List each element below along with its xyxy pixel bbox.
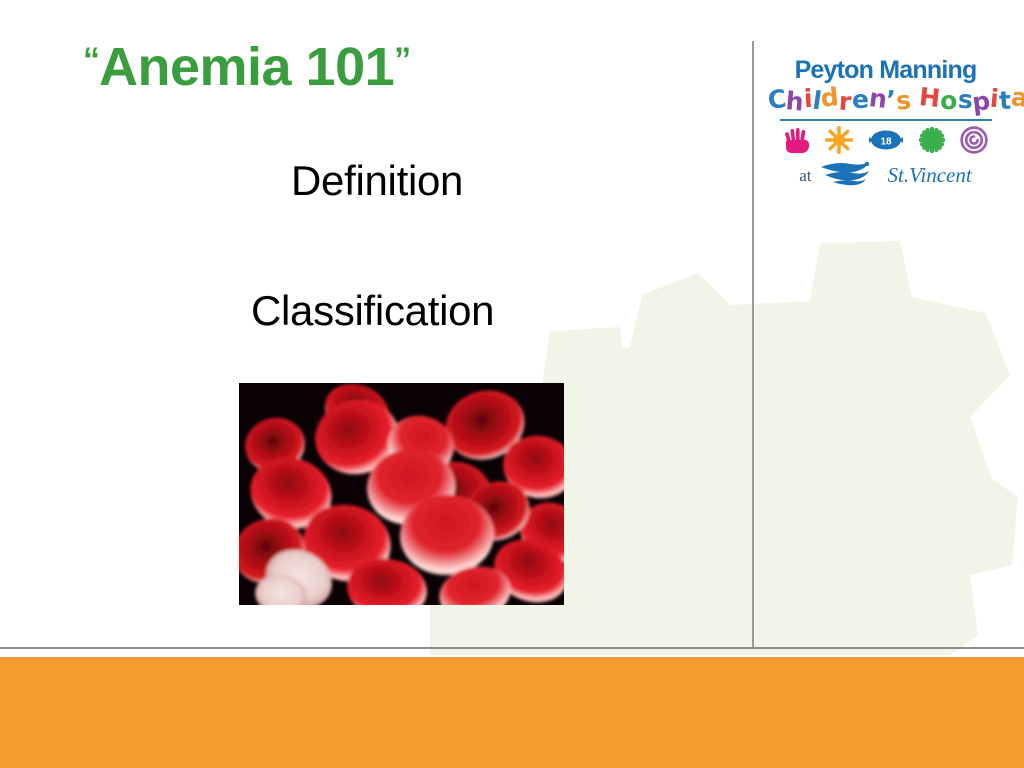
logo-childrens-hospital: Children’s Hospital: [768, 85, 1003, 118]
logo-stvincent-label: St.Vincent: [888, 163, 972, 188]
footer-mark: ·: [97, 703, 103, 720]
hand-icon: [783, 127, 811, 153]
hospital-logo: Peyton Manning Children’s Hospital: [768, 57, 1003, 202]
burst-icon: [918, 126, 946, 154]
logo-icon-row: 18: [783, 126, 988, 154]
title-open-quote: “: [83, 41, 99, 79]
logo-letter-9: s: [895, 85, 912, 116]
football-18-label: 18: [880, 137, 892, 148]
logo-underline: [780, 119, 992, 121]
sun-icon: [825, 126, 853, 154]
page-title: “Anemia 101”: [83, 36, 410, 98]
logo-affiliation: at St.Vincent: [768, 160, 1003, 191]
body-line-definition: Definition: [291, 157, 463, 205]
football-18-icon: 18: [867, 129, 905, 151]
slide-canvas: “Anemia 101” Definition Classification: [0, 0, 1024, 768]
logo-letter-17: a: [1010, 82, 1024, 114]
logo-letter-12: o: [939, 85, 958, 116]
logo-letter-5: r: [838, 87, 852, 118]
stvincent-bird-icon: [819, 160, 881, 191]
logo-peyton-manning: Peyton Manning: [768, 57, 1003, 84]
logo-letter-1: h: [785, 86, 805, 117]
red-blood-cells-image: [239, 383, 564, 605]
spiral-icon: [960, 126, 988, 154]
footer-band: [0, 657, 1024, 768]
body-line-classification: Classification: [251, 287, 494, 335]
horizontal-divider: [0, 647, 1024, 649]
logo-at-label: at: [799, 166, 811, 186]
vertical-divider: [752, 41, 754, 649]
logo-letter-7: n: [867, 83, 888, 115]
logo-letter-6: e: [851, 85, 869, 116]
title-close-quote: ”: [394, 41, 410, 79]
title-text: Anemia 101: [99, 37, 394, 97]
